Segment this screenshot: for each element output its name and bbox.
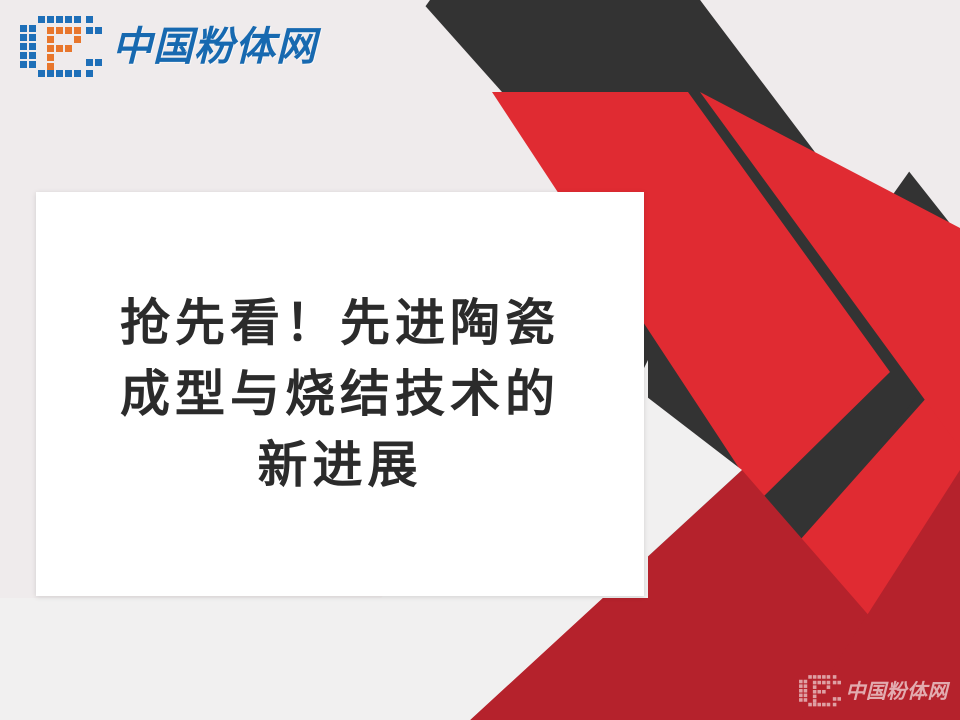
title-line-2: 成型与烧结技术的 — [120, 359, 560, 430]
title-line-3: 新进展 — [258, 430, 423, 501]
brand-wordmark: 中国粉体网 — [112, 27, 317, 67]
gray-top-sliver-shape — [400, 0, 430, 36]
cp-pixel-logo-watermark-icon — [797, 674, 841, 708]
red-chevron-lower-shape — [640, 360, 960, 720]
watermark: 中国粉体网 — [797, 674, 949, 708]
red-chevron-join-shape — [700, 92, 960, 448]
watermark-wordmark: 中国粉体网 — [846, 681, 949, 701]
title-line-1: 抢先看！先进陶瓷 — [120, 288, 560, 359]
presentation-slide: 中国粉体网 抢先看！先进陶瓷 成型与烧结技术的 新进展 — [0, 0, 960, 720]
brand-logo[interactable]: 中国粉体网 — [8, 8, 300, 86]
white-notch-shape — [900, 96, 960, 236]
cp-pixel-logo-icon — [16, 14, 102, 80]
title-card: 抢先看！先进陶瓷 成型与烧结技术的 新进展 — [36, 192, 644, 596]
